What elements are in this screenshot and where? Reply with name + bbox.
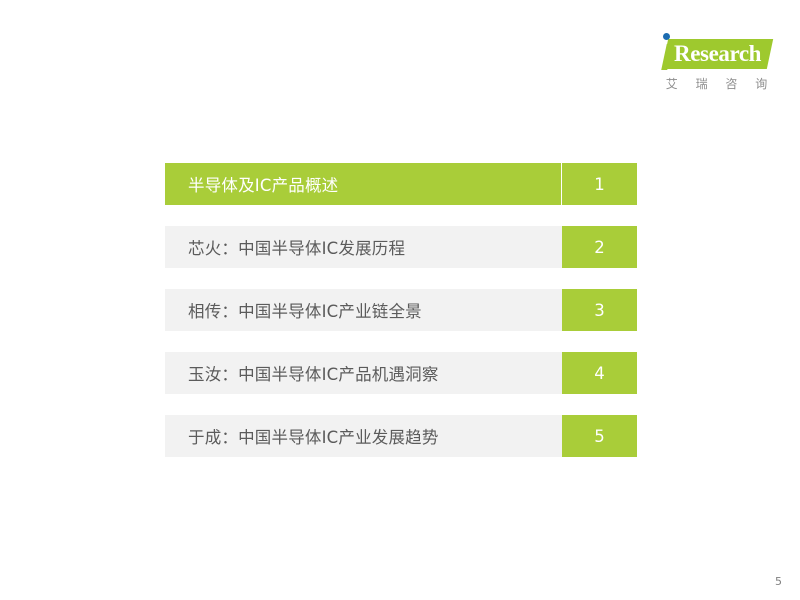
- agenda-item-1-number: 1: [562, 163, 637, 205]
- agenda-item-5-number: 5: [562, 415, 637, 457]
- agenda-item-5-title: 于成：中国半导体IC产业发展趋势: [165, 415, 562, 457]
- agenda-item-5[interactable]: 于成：中国半导体IC产业发展趋势 5: [165, 415, 637, 457]
- logo-wordmark: Research: [674, 40, 761, 68]
- agenda-item-4[interactable]: 玉汝：中国半导体IC产品机遇洞察 4: [165, 352, 637, 394]
- agenda-item-4-title: 玉汝：中国半导体IC产品机遇洞察: [165, 352, 562, 394]
- page-number: 5: [775, 575, 782, 588]
- agenda-item-2-title: 芯火：中国半导体IC发展历程: [165, 226, 562, 268]
- agenda-item-1-title: 半导体及IC产品概述: [165, 163, 562, 205]
- agenda-item-1[interactable]: 半导体及IC产品概述 1: [165, 163, 637, 205]
- agenda-item-3-number: 3: [562, 289, 637, 331]
- agenda-item-3[interactable]: 相传：中国半导体IC产业链全景 3: [165, 289, 637, 331]
- agenda-item-3-title: 相传：中国半导体IC产业链全景: [165, 289, 562, 331]
- agenda-item-2-number: 2: [562, 226, 637, 268]
- agenda-item-2[interactable]: 芯火：中国半导体IC发展历程 2: [165, 226, 637, 268]
- agenda-item-4-number: 4: [562, 352, 637, 394]
- logo-letter-i-dot-icon: [663, 33, 670, 40]
- logo-mark: Research: [655, 30, 775, 72]
- agenda-list: 半导体及IC产品概述 1 芯火：中国半导体IC发展历程 2 相传：中国半导体IC…: [165, 163, 637, 457]
- iresearch-logo: Research 艾 瑞 咨 询: [655, 30, 775, 98]
- logo-subtitle: 艾 瑞 咨 询: [655, 75, 775, 92]
